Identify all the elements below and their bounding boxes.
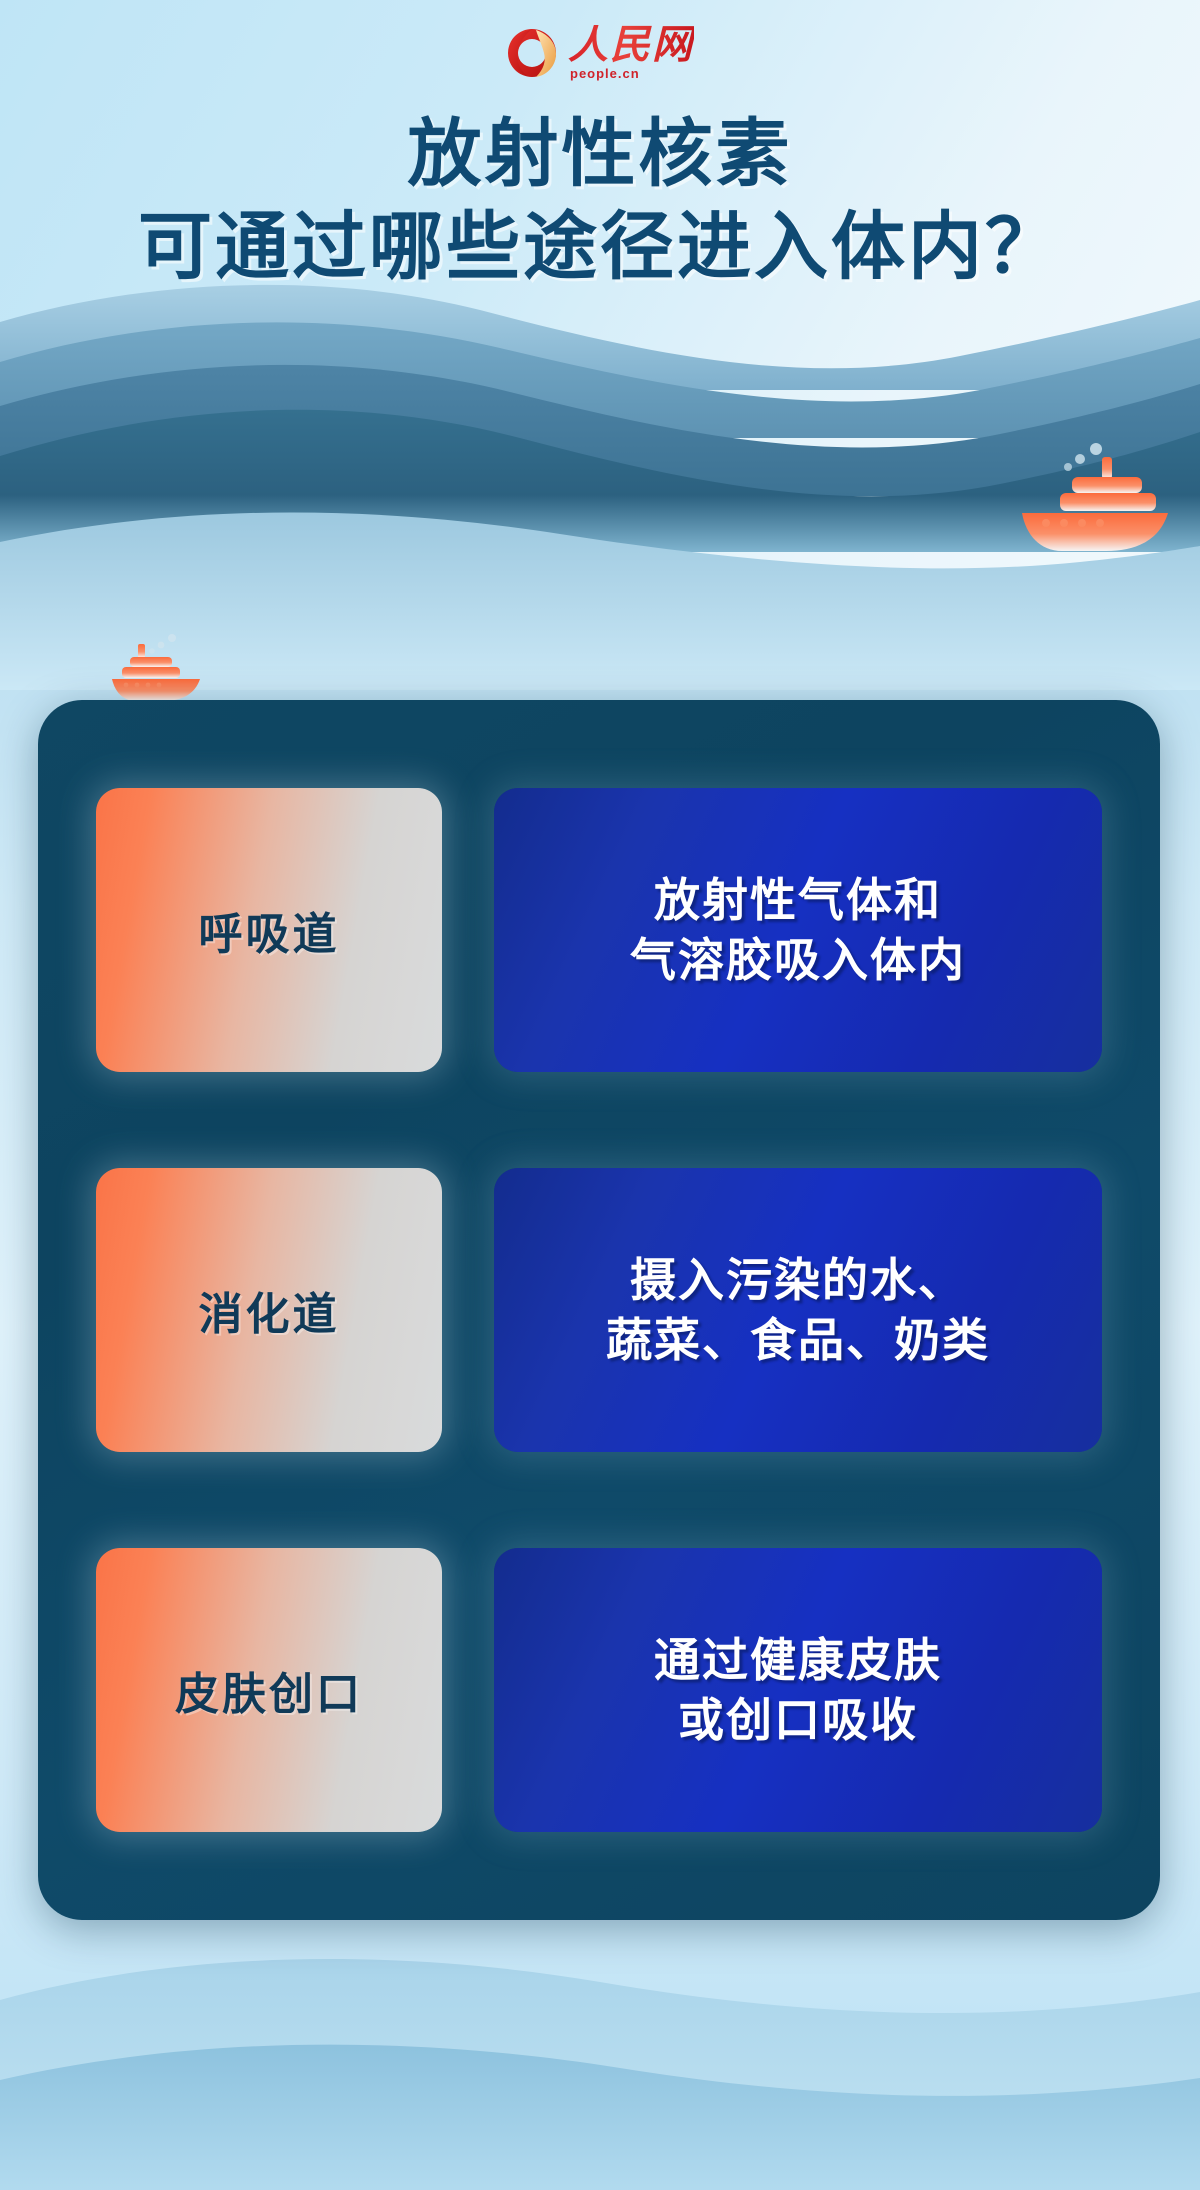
route-row-digestive: 消化道 摄入污染的水、 蔬菜、食品、奶类 <box>96 1168 1102 1452</box>
title-line-1: 放射性核素 <box>0 108 1200 200</box>
people-cn-swirl-icon <box>506 27 558 79</box>
route-detail-text: 放射性气体和 气溶胶吸入体内 <box>630 870 966 990</box>
route-label: 消化道 <box>199 1278 340 1342</box>
route-label: 呼吸道 <box>199 898 340 962</box>
wave-band-bottom <box>0 1930 1200 2190</box>
routes-card: 呼吸道 放射性气体和 气溶胶吸入体内 消化道 摄入污染的水、 蔬菜、食品、奶类 … <box>38 700 1160 1920</box>
ship-icon-large <box>1010 435 1178 555</box>
ship-icon-small <box>108 630 208 704</box>
route-detail-skin-wound[interactable]: 通过健康皮肤 或创口吸收 <box>494 1548 1102 1832</box>
brand-name-en: people.cn <box>570 66 640 81</box>
brand-name-cn: 人民网 <box>568 25 694 65</box>
infographic-page: 人民网 people.cn 放射性核素 可通过哪些途径进入体内？ 呼吸道 放射性… <box>0 0 1200 2190</box>
route-chip-respiratory[interactable]: 呼吸道 <box>96 788 442 1072</box>
page-title: 放射性核素 可通过哪些途径进入体内？ <box>0 108 1200 294</box>
route-row-respiratory: 呼吸道 放射性气体和 气溶胶吸入体内 <box>96 788 1102 1072</box>
route-detail-digestive[interactable]: 摄入污染的水、 蔬菜、食品、奶类 <box>494 1168 1102 1452</box>
route-chip-digestive[interactable]: 消化道 <box>96 1168 442 1452</box>
route-chip-skin-wound[interactable]: 皮肤创口 <box>96 1548 442 1832</box>
route-label: 皮肤创口 <box>175 1658 363 1722</box>
brand-logo[interactable]: 人民网 people.cn <box>0 18 1200 88</box>
title-line-2: 可通过哪些途径进入体内？ <box>0 200 1200 294</box>
routes-list: 呼吸道 放射性气体和 气溶胶吸入体内 消化道 摄入污染的水、 蔬菜、食品、奶类 … <box>38 700 1160 1920</box>
route-row-skin-wound: 皮肤创口 通过健康皮肤 或创口吸收 <box>96 1548 1102 1832</box>
route-detail-text: 通过健康皮肤 或创口吸收 <box>654 1630 942 1750</box>
route-detail-text: 摄入污染的水、 蔬菜、食品、奶类 <box>606 1250 990 1370</box>
route-detail-respiratory[interactable]: 放射性气体和 气溶胶吸入体内 <box>494 788 1102 1072</box>
